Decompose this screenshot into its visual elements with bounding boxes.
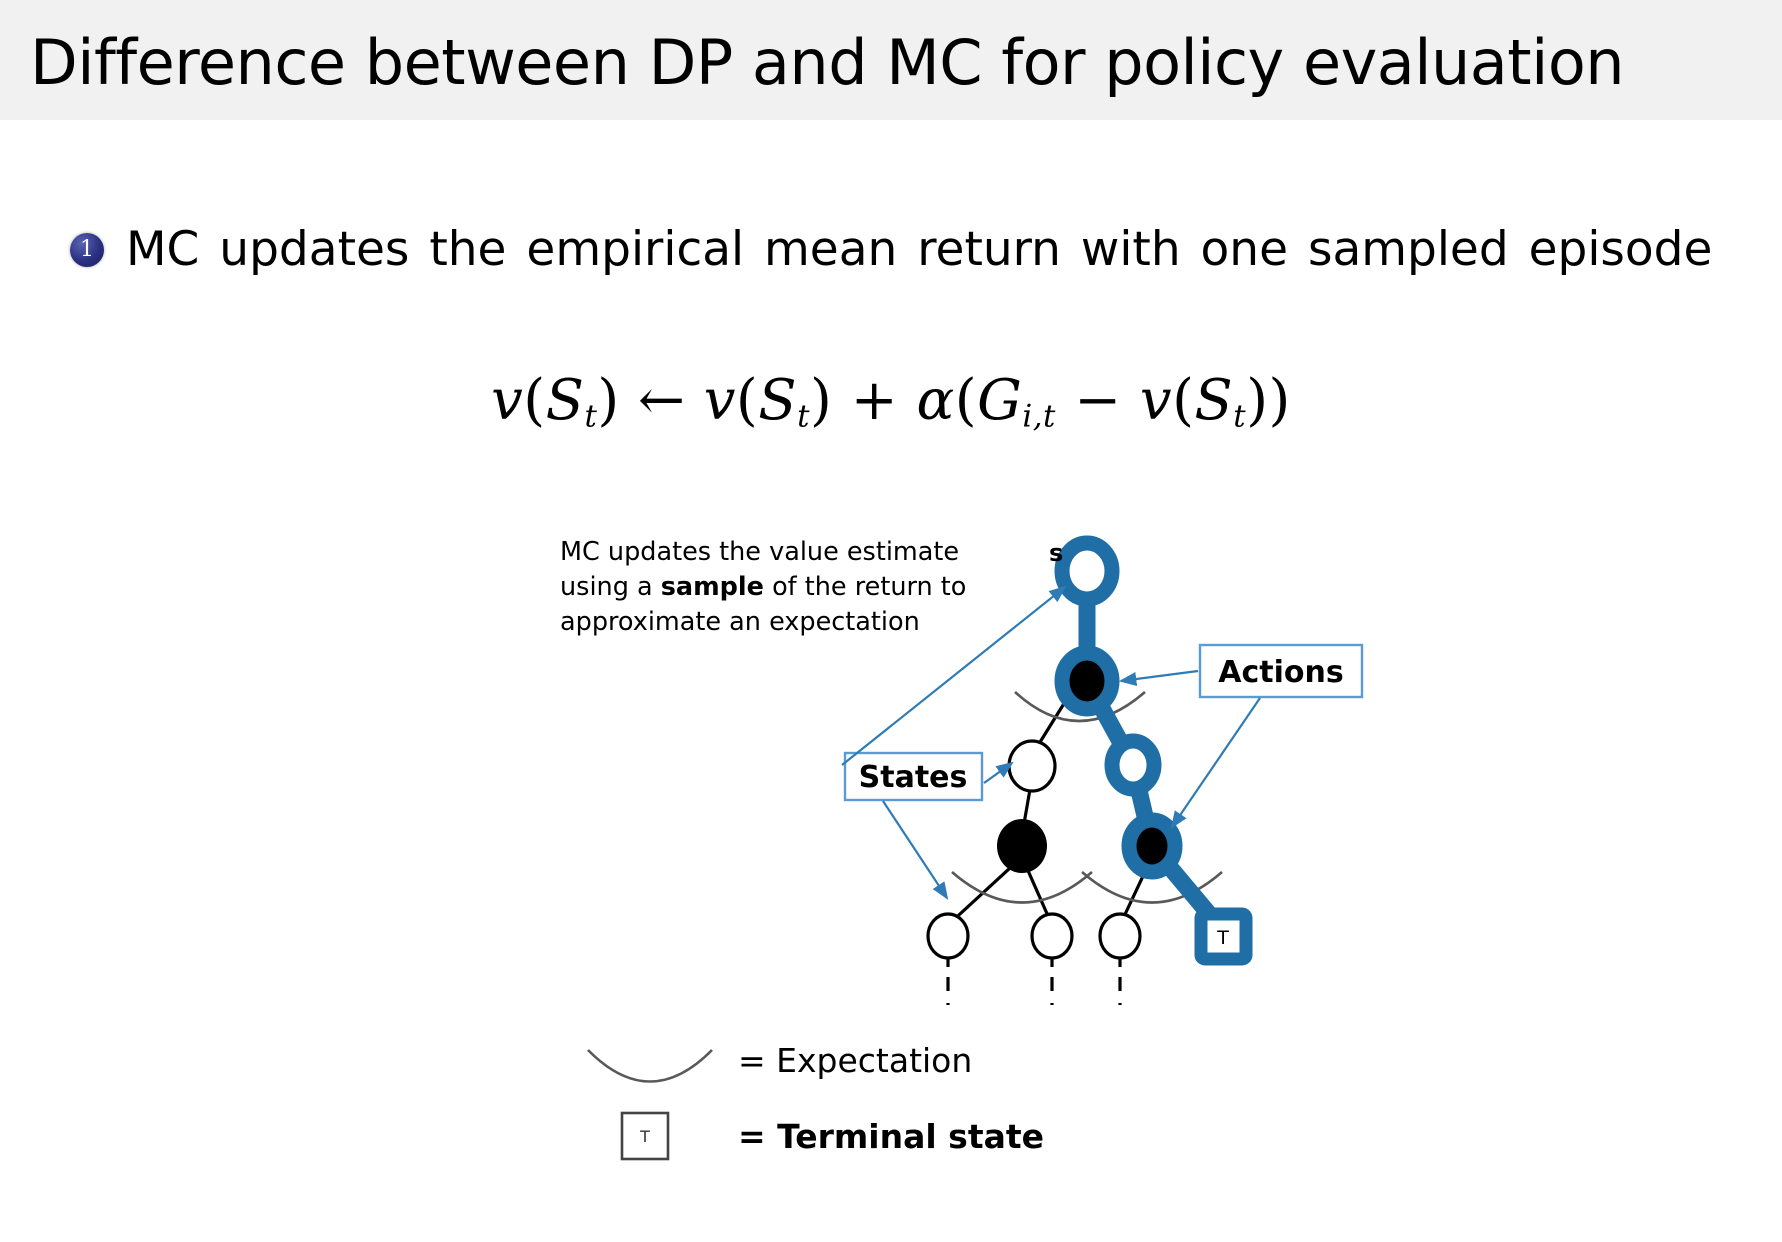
action-node-1-selected	[1062, 653, 1112, 709]
formula-S-3: S	[1194, 368, 1233, 433]
bullet-number-badge: 1	[70, 233, 104, 267]
callout-states-label: States	[859, 760, 968, 795]
formula-paren-close-1: )	[597, 368, 619, 433]
formula-alpha: α	[916, 368, 954, 433]
formula-sub-t-3: t	[1233, 399, 1246, 435]
note-line2-bold: sample	[661, 572, 764, 602]
action-node-2-selected	[1129, 820, 1175, 872]
callout-actions[interactable]: Actions	[1200, 645, 1362, 697]
formula-paren-close-3: )	[1246, 368, 1268, 433]
bullet-item-1: 1 MC updates the empirical mean return w…	[70, 222, 1712, 277]
formula-rhs-v-2: v	[1140, 368, 1172, 433]
formula-sub-t-2: t	[797, 399, 810, 435]
formula-G: G	[977, 368, 1022, 433]
formula-paren-close-2: )	[810, 368, 832, 433]
diagram-note-line-3: approximate an expectation	[560, 607, 920, 637]
formula-minus: −	[1074, 368, 1121, 433]
expectation-arc-left	[952, 872, 1092, 903]
formula-S-1: S	[546, 368, 585, 433]
leader-actions-to-node2	[1172, 698, 1260, 827]
leaf-state-node-2	[1032, 914, 1072, 958]
leaf-state-node-3	[1100, 914, 1140, 958]
bullet-item-label: MC updates the empirical mean return wit…	[126, 222, 1712, 277]
formula-paren-open-2: (	[736, 368, 758, 433]
callout-actions-label: Actions	[1218, 655, 1343, 690]
action-node-left-black	[997, 819, 1047, 873]
root-state-label: s	[1049, 539, 1063, 567]
formula-sub-t-1: t	[584, 399, 597, 435]
formula-paren-close-4: )	[1269, 368, 1291, 433]
diagram-note-line-1: MC updates the value estimate	[560, 537, 959, 567]
legend-expectation-label: = Expectation	[738, 1041, 972, 1080]
formula-paren-open-4: (	[1172, 368, 1194, 433]
update-rule-formula: v(St) ← v(St) + α(Gi,t − v(St))	[0, 368, 1782, 435]
formula-plus: +	[851, 368, 898, 433]
legend-expectation-arc-icon	[588, 1050, 712, 1082]
formula-paren-open-3: (	[955, 368, 977, 433]
page-title: Difference between DP and MC for policy …	[30, 26, 1624, 99]
leader-states-to-leaf	[883, 801, 947, 898]
leaf-stems	[948, 947, 1120, 1005]
leader-actions-to-node1	[1121, 671, 1198, 681]
slide-title-bar: Difference between DP and MC for policy …	[0, 0, 1782, 120]
leader-states-to-state-left	[984, 763, 1012, 783]
tree-black-edges	[948, 681, 1152, 925]
formula-rhs-v-1: v	[704, 368, 736, 433]
formula-arrow: ←	[638, 368, 685, 433]
root-state-node	[1062, 543, 1112, 599]
formula-sub-it: i,t	[1022, 399, 1056, 435]
diagram-legend: = Expectation T = Terminal state	[588, 1041, 1044, 1159]
leaf-state-node-1	[928, 914, 968, 958]
terminal-state-glyph: T	[1216, 927, 1229, 949]
state-node-left	[1009, 741, 1055, 791]
diagram-note-line-2: using a sample of the return to	[560, 572, 966, 602]
callout-states[interactable]: States	[845, 753, 982, 800]
note-line3-text: approximate an expectation	[560, 607, 920, 637]
state-node-2-selected	[1112, 741, 1154, 789]
note-line1-text: MC updates the value estimate	[560, 537, 959, 567]
legend-terminal-label: = Terminal state	[738, 1117, 1044, 1156]
formula-paren-open-1: (	[523, 368, 545, 433]
formula-S-2: S	[758, 368, 797, 433]
note-line2-prefix: using a	[560, 572, 661, 602]
legend-terminal-glyph: T	[639, 1127, 650, 1146]
formula-lhs-v: v	[491, 368, 523, 433]
note-line2-suffix: of the return to	[764, 572, 966, 602]
mc-backup-diagram: MC updates the value estimate using a sa…	[560, 535, 1400, 1175]
